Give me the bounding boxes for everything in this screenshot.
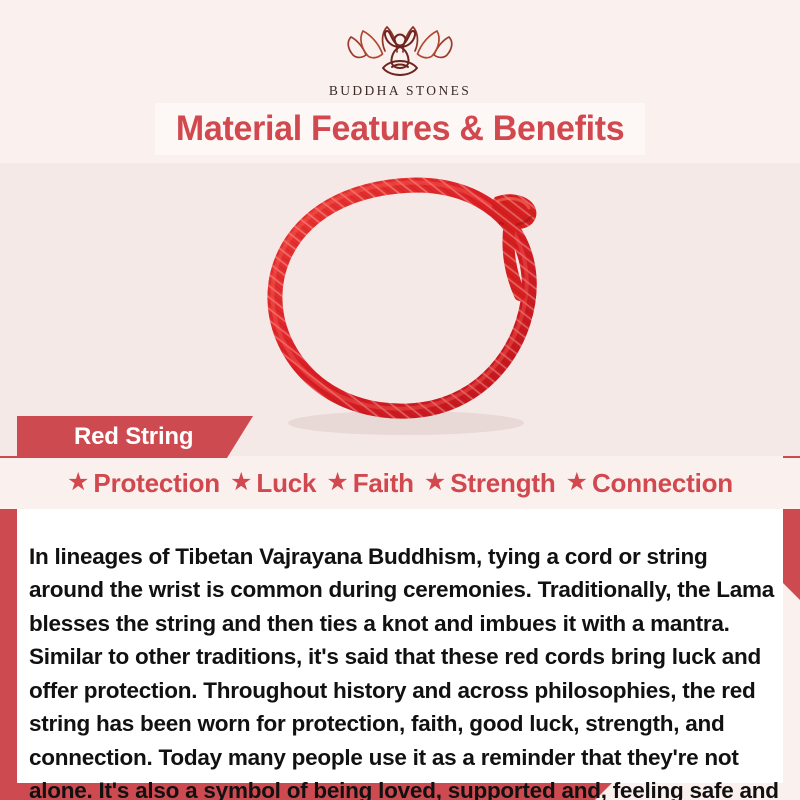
star-icon: ★	[424, 470, 446, 495]
red-string-bracelet-image	[248, 163, 588, 456]
benefit-label: Strength	[450, 468, 555, 499]
benefit-label: Luck	[256, 468, 316, 499]
benefit-item-strength: ★ Strength	[424, 468, 556, 499]
star-icon: ★	[326, 470, 348, 495]
benefit-item-luck: ★ Luck	[230, 468, 316, 499]
lotus-meditation-icon	[335, 18, 465, 80]
benefit-label: Connection	[592, 468, 733, 499]
benefit-item-protection: ★ Protection	[67, 468, 220, 499]
title-banner: Material Features & Benefits	[155, 103, 645, 155]
brand-name: BUDDHA STONES	[0, 83, 800, 99]
benefits-strip: ★ Protection ★ Luck ★ Faith ★ Strength ★…	[0, 458, 800, 509]
brand-logo: BUDDHA STONES	[0, 18, 800, 99]
product-label-ribbon: Red String	[17, 416, 253, 458]
star-icon: ★	[67, 470, 89, 495]
infographic-canvas: BUDDHA STONES Material Features & Benefi…	[0, 0, 800, 800]
description-panel: In lineages of Tibetan Vajrayana Buddhis…	[17, 509, 783, 783]
benefit-item-connection: ★ Connection	[566, 468, 733, 499]
benefit-label: Protection	[93, 468, 220, 499]
product-label: Red String	[74, 423, 193, 451]
product-image-panel	[0, 163, 800, 456]
star-icon: ★	[566, 470, 588, 495]
benefit-label: Faith	[353, 468, 414, 499]
benefit-item-faith: ★ Faith	[326, 468, 414, 499]
star-icon: ★	[230, 470, 252, 495]
page-title: Material Features & Benefits	[176, 109, 624, 149]
description-text: In lineages of Tibetan Vajrayana Buddhis…	[29, 540, 781, 800]
